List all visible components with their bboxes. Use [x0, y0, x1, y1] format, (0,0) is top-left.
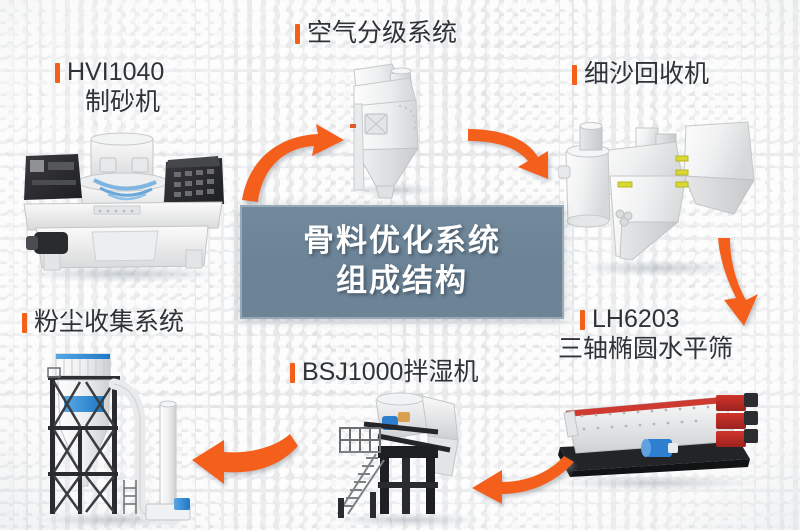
- machine-image-sand-maker: [8, 132, 238, 282]
- centre-title-box: 骨料优化系统 组成结构: [240, 205, 564, 319]
- marker-bar-icon: [290, 363, 295, 383]
- centre-title-line2: 组成结构: [336, 262, 468, 302]
- machine-image-wet-mixer: [318, 388, 500, 530]
- label-wet-mixer-line1: BSJ1000拌湿机: [302, 358, 478, 386]
- label-sand-maker: HVI1040 制砂机: [55, 58, 164, 117]
- label-sand-maker-line1: HVI1040: [67, 58, 164, 86]
- machine-image-horizontal-screen: [538, 383, 770, 495]
- label-horizontal-screen-line1: LH6203: [592, 305, 680, 333]
- label-sand-maker-line2: 制砂机: [85, 88, 164, 118]
- label-wet-mixer: BSJ1000拌湿机: [290, 358, 478, 388]
- marker-bar-icon: [572, 65, 577, 85]
- marker-bar-icon: [22, 313, 27, 333]
- machine-image-air-classifier: [332, 58, 462, 218]
- machine-image-dust-collector: [28, 348, 200, 530]
- label-air-classifier: 空气分级系统: [295, 19, 457, 49]
- label-fine-sand-recovery-line1: 细沙回收机: [584, 60, 709, 88]
- label-air-classifier-line1: 空气分级系统: [307, 19, 457, 47]
- centre-title-line1: 骨料优化系统: [303, 222, 501, 262]
- marker-bar-icon: [295, 24, 300, 44]
- infographic-canvas: HVI1040 制砂机 空气分级系统 细沙回收机 LH6203 三轴椭圆水平筛 …: [0, 0, 800, 530]
- marker-bar-icon: [580, 310, 585, 330]
- label-dust-collection-line1: 粉尘收集系统: [34, 308, 184, 336]
- label-fine-sand-recovery: 细沙回收机: [572, 60, 709, 90]
- marker-bar-icon: [55, 63, 60, 83]
- label-dust-collection: 粉尘收集系统: [22, 308, 184, 338]
- label-horizontal-screen-line2: 三轴椭圆水平筛: [558, 335, 733, 365]
- label-horizontal-screen: LH6203 三轴椭圆水平筛: [580, 305, 733, 364]
- machine-image-fine-sand-recovery: [558, 118, 763, 283]
